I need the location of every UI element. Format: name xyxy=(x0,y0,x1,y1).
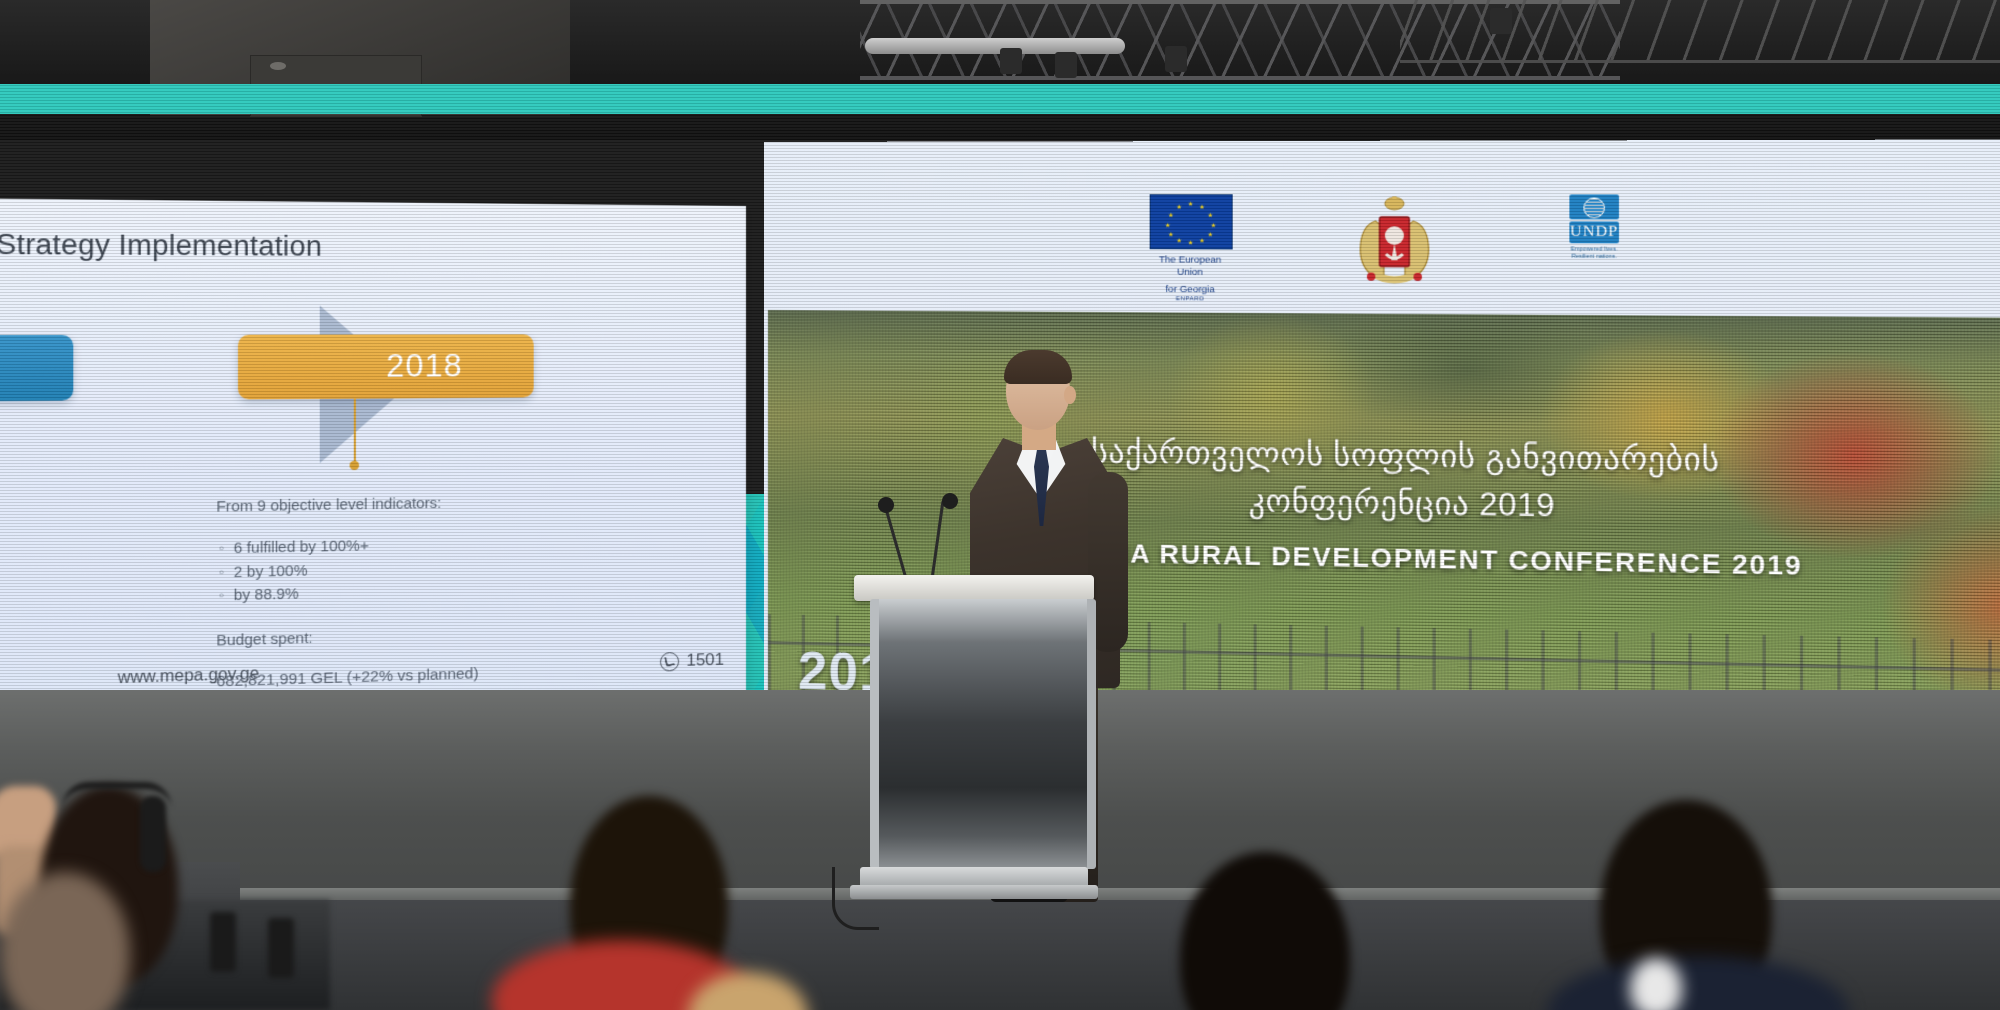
undp-globe-icon xyxy=(1569,194,1619,219)
audience-desk-clip xyxy=(210,912,236,972)
connector-line-2018 xyxy=(354,399,356,463)
logo-row: The European Union for Georgia ENPARD xyxy=(1150,194,1628,304)
eu-logo-subcaption: ENPARD xyxy=(1150,296,1231,303)
audience-headphone-cup xyxy=(140,796,166,872)
phone-icon xyxy=(660,651,679,671)
year-chip-2018: 2018 xyxy=(238,334,534,399)
spotlight-icon xyxy=(1000,48,1022,74)
audience-collar xyxy=(1630,958,1682,1010)
year-chip-2017: 2017 xyxy=(0,335,73,403)
hotline-number-label: 1501 xyxy=(686,650,724,671)
microphone-icon xyxy=(878,497,894,513)
right-column-bullets: 6 fulfilled by 100%+ 2 by 100% by 88.9% xyxy=(216,532,564,609)
smoke-detector-icon xyxy=(270,62,286,70)
left-column-2017: level indicators: d by 100% or 100%+; d … xyxy=(0,497,129,666)
lectern-top xyxy=(854,575,1094,601)
undp-logo-letters: UNDP xyxy=(1569,221,1619,243)
list-item: lled. xyxy=(0,587,129,619)
undp-logo-subcaption: Empowered lives. Resilient nations. xyxy=(1561,246,1628,261)
left-slide-title: ults of the Strategy Implementation xyxy=(0,227,322,263)
spotlight-icon xyxy=(1165,46,1187,72)
light-bar xyxy=(865,38,1125,54)
lectern-base-plinth xyxy=(850,885,1098,899)
audio-cable xyxy=(832,867,879,930)
presenter-hair xyxy=(1004,350,1072,384)
right-column-header: From 9 objective level indicators: xyxy=(216,491,564,520)
left-presentation-slide: ults of the Strategy Implementation 2017… xyxy=(0,198,746,704)
eu-flag-icon xyxy=(1150,194,1233,249)
presenter-ear xyxy=(1064,386,1076,404)
georgia-coat-of-arms-icon xyxy=(1344,194,1446,293)
audience-desk-clip xyxy=(268,918,294,978)
spotlight-icon xyxy=(1055,52,1077,78)
eu-logo-caption-line2: for Georgia xyxy=(1150,284,1231,297)
eu-logo: The European Union for Georgia ENPARD xyxy=(1150,194,1231,302)
lectern-body xyxy=(870,599,1096,869)
left-column-budget: EL (+38.3% vs planned) xyxy=(0,632,129,666)
eu-logo-caption-line1: The European Union xyxy=(1150,254,1231,279)
screenshot-root: ults of the Strategy Implementation 2017… xyxy=(0,0,2000,1010)
left-column-budget-amount: EL (+38.3% vs planned) xyxy=(0,632,129,666)
ministry-website-url: www.mepa.gov.ge xyxy=(118,665,259,688)
left-column-header: level indicators: xyxy=(0,497,129,526)
left-column-bullets: d by 100% or 100%+; d partially; lled. xyxy=(0,540,129,619)
undp-logo: UNDP Empowered lives. Resilient nations. xyxy=(1561,194,1628,261)
connector-dot-2018 xyxy=(350,461,360,470)
hotline-number: 1501 xyxy=(660,650,724,672)
wall-top-band xyxy=(0,84,2000,114)
year-chip-2018-label: 2018 xyxy=(386,348,463,385)
lectern xyxy=(854,575,1094,925)
right-column-budget-header: Budget spent: xyxy=(216,621,564,654)
microphone-icon xyxy=(942,493,958,509)
spotlight-icon xyxy=(1490,8,1512,34)
